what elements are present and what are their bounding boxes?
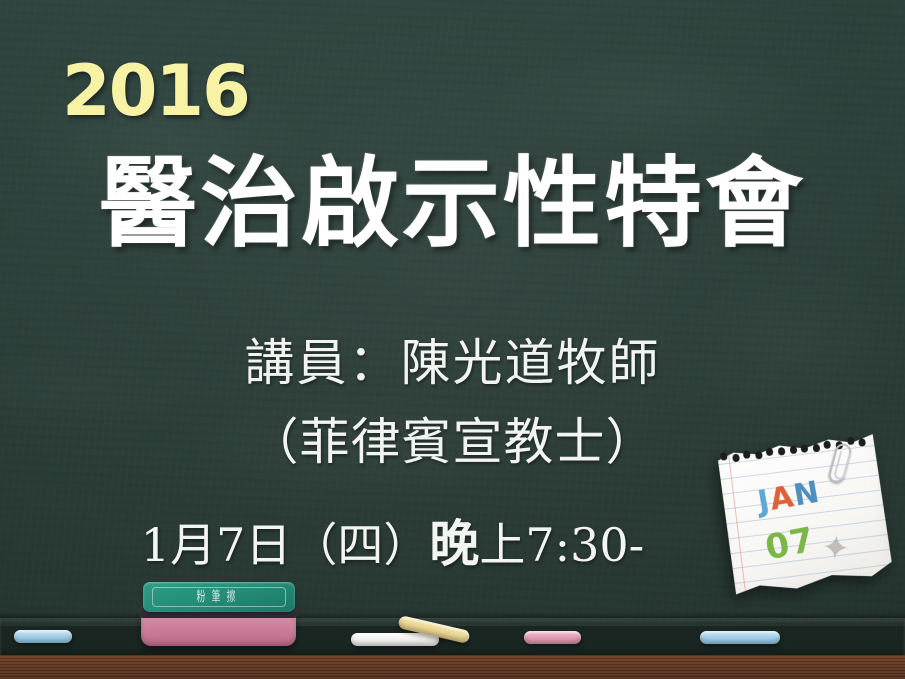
eraser-label: 粉筆擦 <box>143 586 295 606</box>
eraser-top: 粉筆擦 <box>143 582 295 612</box>
page-title: 醫治啟示性特會 <box>0 152 905 258</box>
chalk-white <box>351 633 439 646</box>
year-heading: 2016 <box>62 56 249 126</box>
presentation-slide: 2016 醫治啟示性特會 講員：陳光道牧師 （菲律賓宣教士） 1月7日（四）晚上… <box>0 0 905 679</box>
board-eraser: 粉筆擦 <box>137 582 300 648</box>
chalk-tray: 粉筆擦 <box>0 618 905 679</box>
event-date-text: 1月7日（四） <box>141 518 430 572</box>
event-time-text: 上7:30- <box>479 518 644 572</box>
star-doodle-icon: ✦ <box>820 527 852 569</box>
tray-front-face <box>0 655 905 679</box>
chalk-blue-left <box>14 630 72 643</box>
speaker-name-line: 講員：陳光道牧師 <box>0 323 905 395</box>
chalk-pink <box>524 631 581 644</box>
event-time-emphasis: 晚 <box>429 514 479 573</box>
chalk-blue-right <box>700 631 780 644</box>
calendar-note: JAN 07 ✦ <box>713 431 895 600</box>
